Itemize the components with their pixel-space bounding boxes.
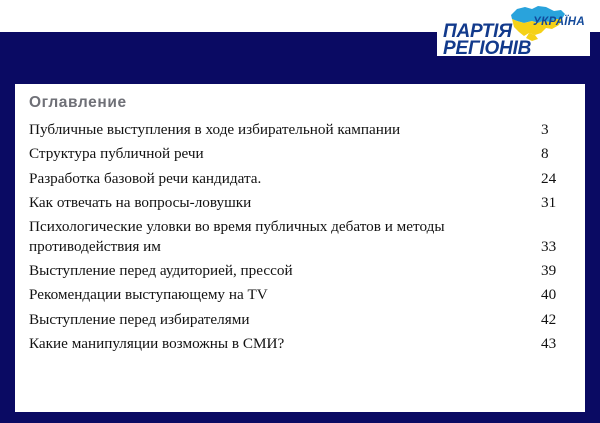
logo-country-label: УКРАЇНА	[533, 16, 585, 28]
toc-entry-label: Рекомендации выступающему на TV	[29, 285, 268, 305]
toc-entry-label: Выступление перед аудиторией, прессой	[29, 261, 293, 281]
toc-entry-page-number: 42	[535, 310, 577, 330]
toc-entry-label: Публичные выступления в ходе избирательн…	[29, 120, 400, 140]
toc-entry-page-number: 33	[535, 237, 577, 257]
content-panel-inner: Оглавление Публичные выступления в ходе …	[29, 94, 577, 408]
toc-entry-page-number: 8	[535, 144, 577, 164]
toc-entry[interactable]: Психологические уловки во время публичны…	[29, 217, 577, 257]
toc-entry-page-number: 3	[535, 120, 577, 140]
toc-entry-page-number: 31	[535, 193, 577, 213]
toc-entry-page-number: 24	[535, 169, 577, 189]
table-of-contents-list: Публичные выступления в ходе избирательн…	[29, 120, 577, 354]
toc-entry[interactable]: Публичные выступления в ходе избирательн…	[29, 120, 577, 140]
toc-entry-page-number: 43	[535, 334, 577, 354]
toc-entry[interactable]: Выступление перед аудиторией, прессой39	[29, 261, 577, 281]
toc-entry-label: Какие манипуляции возможны в СМИ?	[29, 334, 284, 354]
toc-entry-label: Психологические уловки во время публичны…	[29, 217, 499, 257]
toc-entry[interactable]: Структура публичной речи8	[29, 144, 577, 164]
toc-entry-label: Структура публичной речи	[29, 144, 204, 164]
toc-entry[interactable]: Рекомендации выступающему на TV40	[29, 285, 577, 305]
party-logo: УКРАЇНА ПАРТІЯ РЕГІОНІВ	[437, 0, 590, 56]
toc-entry-page-number: 40	[535, 285, 577, 305]
presentation-slide: УКРАЇНА ПАРТІЯ РЕГІОНІВ Оглавление Публи…	[0, 0, 600, 423]
toc-entry[interactable]: Какие манипуляции возможны в СМИ?43	[29, 334, 577, 354]
logo-line-2: РЕГІОНІВ	[443, 39, 531, 56]
toc-entry[interactable]: Как отвечать на вопросы-ловушки31	[29, 193, 577, 213]
toc-entry-label: Разработка базовой речи кандидата.	[29, 169, 261, 189]
content-panel: Оглавление Публичные выступления в ходе …	[15, 84, 585, 412]
toc-entry-label: Как отвечать на вопросы-ловушки	[29, 193, 251, 213]
toc-entry[interactable]: Выступление перед избирателями42	[29, 310, 577, 330]
toc-entry-page-number: 39	[535, 261, 577, 281]
toc-entry-label: Выступление перед избирателями	[29, 310, 249, 330]
toc-entry[interactable]: Разработка базовой речи кандидата.24	[29, 169, 577, 189]
page-title: Оглавление	[29, 94, 577, 111]
